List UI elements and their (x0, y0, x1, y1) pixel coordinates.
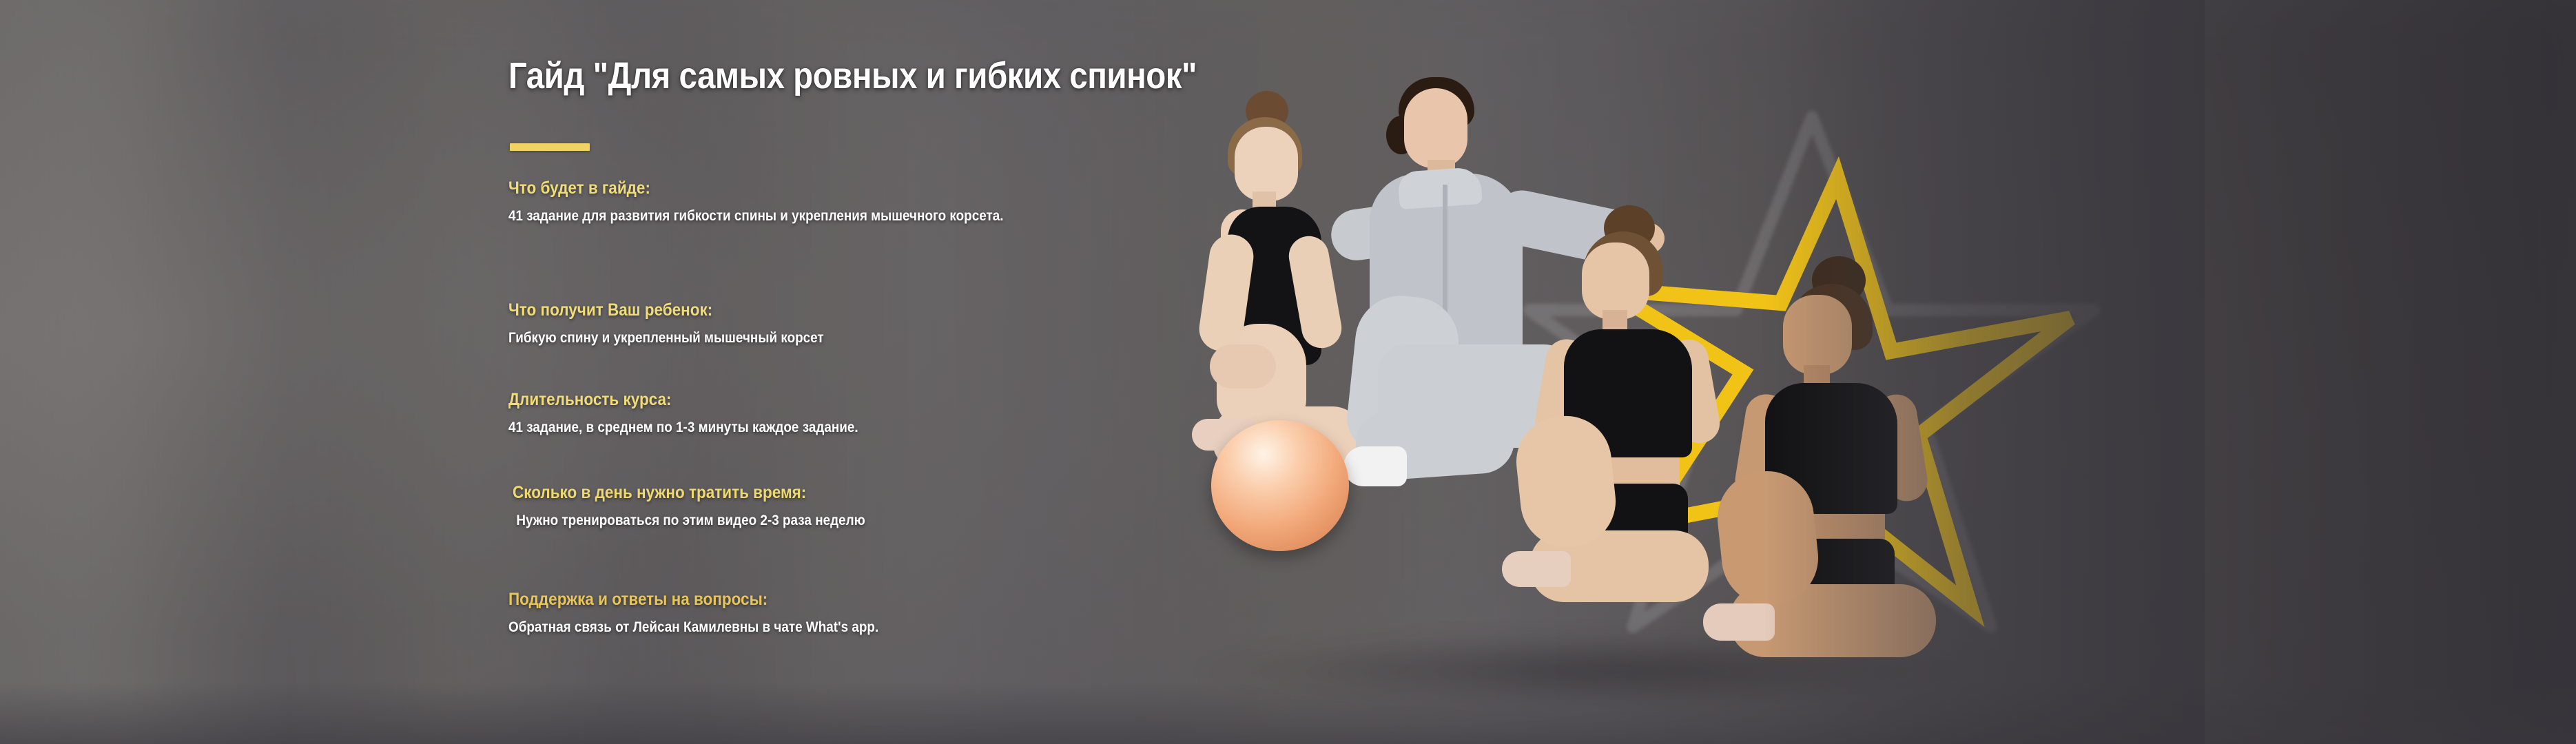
coach-collar (1397, 167, 1482, 209)
list-item-heading: Поддержка и ответы на вопросы: (508, 589, 1191, 610)
promo-banner: Гайд "Для самых ровных и гибких спинок" … (0, 0, 2576, 744)
list-item-heading: Что получит Ваш ребенок: (508, 300, 1191, 320)
girl-three-head (1783, 295, 1852, 375)
exercise-ball (1211, 420, 1349, 551)
list-item-heading: Сколько в день нужно тратить время: (513, 482, 1195, 503)
page-title: Гайд "Для самых ровных и гибких спинок" (508, 55, 1197, 96)
text-column: Гайд "Для самых ровных и гибких спинок" … (0, 0, 1171, 744)
list-item: Что получит Ваш ребенок: Гибкую спину и … (508, 300, 1266, 349)
girl-two-head (1582, 242, 1649, 320)
list-item-body: Нужно тренироваться по этим видео 2-3 ра… (513, 510, 1027, 531)
girl-two-shoe (1502, 551, 1571, 587)
list-item: Что будет в гайде: 41 задание для развит… (508, 178, 1266, 227)
girl-three-shoe (1703, 603, 1775, 641)
list-item-body: Обратная связь от Лейсан Камилевны в чат… (508, 617, 1023, 638)
list-item: Длительность курса: 41 задание, в средне… (508, 389, 1266, 438)
list-item-body: 41 задание, в среднем по 1-3 минуты кажд… (508, 417, 1023, 438)
list-item: Сколько в день нужно тратить время: Нужн… (513, 482, 1270, 531)
list-item-body: 41 задание для развития гибкости спины и… (508, 206, 1023, 227)
list-item-heading: Что будет в гайде: (508, 178, 1191, 198)
title-accent-bar (510, 143, 590, 151)
list-item-heading: Длительность курса: (508, 389, 1191, 410)
coach-head (1404, 88, 1467, 168)
girl-one-hands (1210, 344, 1276, 389)
girl-one-head (1235, 127, 1298, 201)
photo-cutout (1171, 0, 2205, 744)
coach-sock (1343, 446, 1407, 486)
list-item-body: Гибкую спину и укрепленный мышечный корс… (508, 328, 1023, 349)
list-item: Поддержка и ответы на вопросы: Обратная … (508, 589, 1266, 638)
